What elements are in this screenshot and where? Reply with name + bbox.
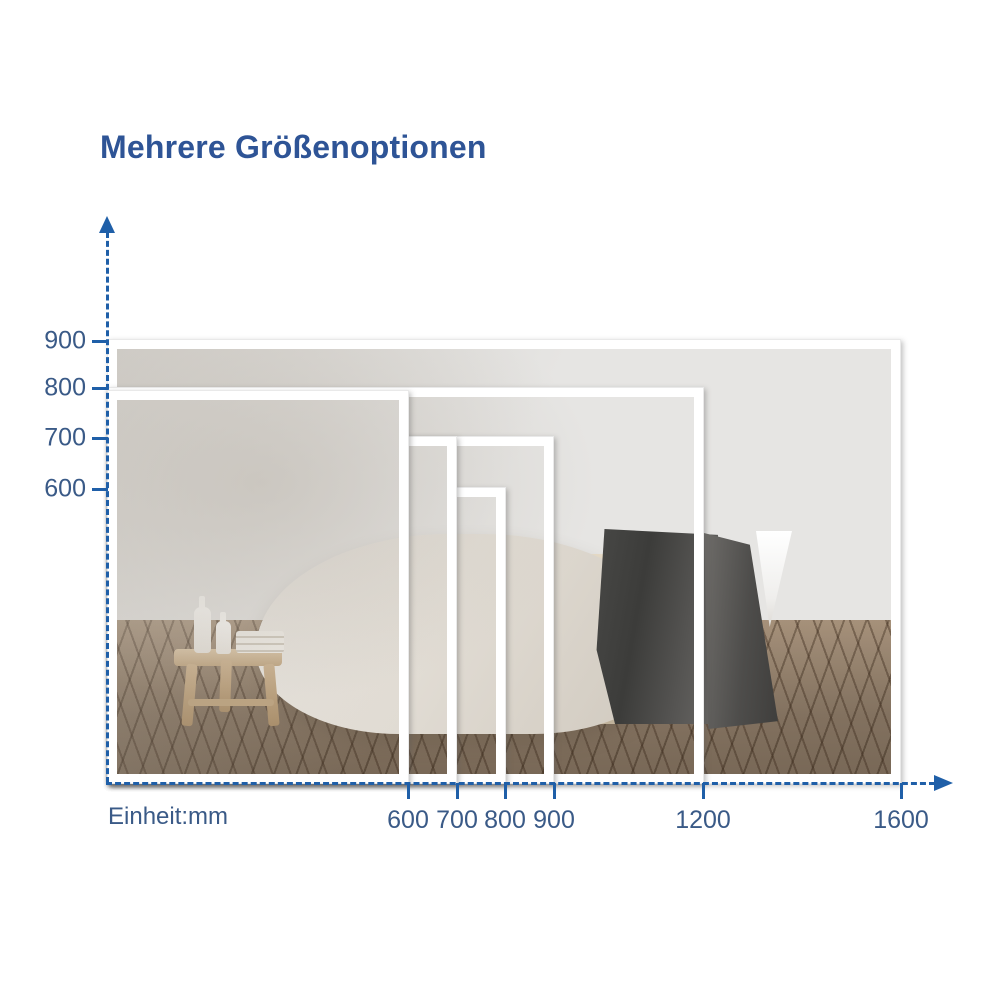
mirror-600x700[interactable] [107, 390, 409, 784]
mirror-glass [117, 400, 399, 774]
size-options-diagram: Mehrere Größenoptionen [0, 0, 1000, 1000]
unit-label: Einheit:mm [108, 803, 228, 831]
x-tick-1600 [900, 783, 903, 799]
stool-leg [219, 660, 232, 712]
x-axis-label-1200: 1200 [675, 806, 731, 835]
y-tick-600 [92, 488, 108, 491]
bathtub [256, 534, 399, 734]
dark-robe-fold [704, 533, 778, 729]
y-axis-arrow-icon [99, 216, 115, 233]
cream-panel [546, 554, 616, 724]
x-axis-label-700: 700 [436, 806, 478, 835]
x-axis-label-900: 900 [533, 806, 575, 835]
y-axis-label-900: 900 [44, 327, 86, 356]
x-axis-label-1600: 1600 [873, 806, 929, 835]
y-axis-label-700: 700 [44, 424, 86, 453]
x-axis [106, 782, 935, 785]
y-tick-900 [92, 340, 108, 343]
page-title: Mehrere Größenoptionen [100, 129, 487, 166]
y-axis-label-600: 600 [44, 475, 86, 504]
x-tick-900 [553, 783, 556, 799]
y-tick-800 [92, 387, 108, 390]
x-tick-700 [456, 783, 459, 799]
x-axis-label-600: 600 [387, 806, 429, 835]
bottle-short [216, 621, 231, 654]
bottle-tall [194, 607, 211, 653]
bathroom-scene [117, 400, 399, 774]
white-robe-fold [756, 531, 792, 627]
x-tick-800 [504, 783, 507, 799]
folded-towels [236, 631, 284, 653]
y-axis-label-800: 800 [44, 374, 86, 403]
stool-leg [181, 664, 197, 727]
x-axis-arrow-icon [934, 775, 953, 791]
stool-seat [174, 649, 282, 666]
stool-rail [188, 699, 274, 706]
dark-robe [586, 529, 694, 724]
stool-leg [263, 664, 279, 727]
y-tick-700 [92, 437, 108, 440]
x-tick-600 [407, 783, 410, 799]
y-axis [106, 232, 109, 783]
x-axis-label-800: 800 [484, 806, 526, 835]
x-tick-1200 [702, 783, 705, 799]
